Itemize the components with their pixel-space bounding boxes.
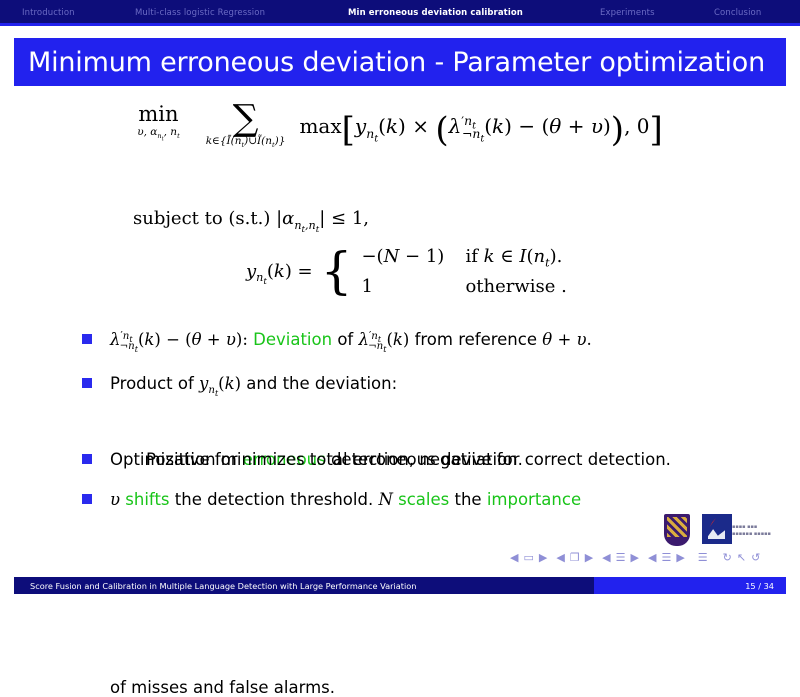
nav-forward-icon[interactable]: ↺ [751,552,760,563]
bullet4-mid2: the [449,490,487,509]
nav-next-slide-icon[interactable]: ▶ [539,552,547,563]
bullet1-tail: from reference θ + υ. [415,330,592,349]
nav-search-icon[interactable]: ↖ [737,552,746,563]
max-operator-symbol: max [299,114,341,138]
nav-next-subsection-icon[interactable]: ▶ [631,552,639,563]
equation-objective: min υ, αnt, nt ∑ k∈{Ī(nt)∪Ĩ(nt)} max[ynt… [0,104,800,150]
bullet-text-3: Optimization minimizes total erroneous d… [0,448,800,471]
nav-next-section-icon[interactable]: ▶ [676,552,684,563]
footer-left-panel: Score Fusion and Calibration in Multiple… [14,577,594,594]
slide-title-bar: Minimum erroneous deviation - Parameter … [14,38,786,86]
nav-prev-section-icon[interactable]: ◀ [648,552,656,563]
list-item: λ′nt¬nt(k) − (θ + υ): Deviation of λ′nt¬… [0,328,800,351]
piecewise-case-1-value: −(N − 1) [361,246,465,267]
bullet4-upsilon: υ [110,490,125,509]
page-title: Minimum erroneous deviation - Parameter … [14,47,765,78]
piecewise-case-2-value: 1 [361,276,465,297]
list-item: υ shifts the detection threshold. N scal… [0,488,800,511]
beamer-navigation-symbols[interactable]: ◀ ▭ ▶ ◀ ❐ ▶ ◀ ☰ ▶ ◀ ☰ ▶ ☰ ↻ ↖ ↺ [510,552,760,563]
nav-next-frame-icon[interactable]: ▶ [585,552,593,563]
footer-right-panel: 15 / 34 [594,577,786,594]
list-item: Optimization minimizes total erroneous d… [0,448,800,471]
piecewise-case-2-condition: otherwise . [465,276,566,297]
max-expression: max[ynt(k) × (λ′nt¬nt(k) − (θ + υ)), 0] [299,110,662,150]
highlight-scales: scales [393,490,449,509]
nav-section-icon[interactable]: ☰ [661,552,671,563]
bullet-text-4-line2: of misses and false alarms. [110,678,335,697]
section-navigation-bar: Introduction Multi-class logistic Regres… [0,0,800,23]
nav-item-experiments[interactable]: Experiments [600,8,655,18]
bullet2-prefix: Product of [110,374,199,393]
piecewise-case-1-condition: if k ∈ I(nt). [465,246,562,267]
footer-paper-title: Score Fusion and Calibration in Multiple… [30,581,416,591]
nav-prev-slide-icon[interactable]: ◀ [510,552,518,563]
nav-prev-frame-icon[interactable]: ◀ [556,552,564,563]
bullet-text-4: υ shifts the detection threshold. N scal… [0,488,800,511]
nav-subsection-icon[interactable]: ☰ [616,552,626,563]
bullet4-mid1: the detection threshold. [170,490,379,509]
bullet-text-2: Product of ynt(k) and the deviation: [0,372,800,395]
institute-wordmark: ▪▪▪▪ ▪▪▪▪▪▪▪▪▪ ▪▪▪▪▪ [732,524,776,537]
nav-prev-subsection-icon[interactable]: ◀ [602,552,610,563]
bullet-text-1: λ′nt¬nt(k) − (θ + υ): Deviation of λ′nt¬… [0,328,800,351]
nav-back-icon[interactable]: ↻ [723,552,732,563]
highlight-shifts: shifts [125,490,169,509]
piecewise-case-1: −(N − 1) if k ∈ I(nt). [361,246,566,267]
nav-item-introduction[interactable]: Introduction [22,8,75,18]
navbar-underline [0,23,800,26]
piecewise-case-2: 1 otherwise . [361,276,566,297]
piecewise-brace: { [321,252,353,291]
footer-page-number: 15 / 34 [745,581,774,591]
bullet1-of: of [332,330,358,349]
university-shield-logo-icon [664,514,690,546]
highlight-deviation: Deviation [253,330,332,349]
slide-footer: Score Fusion and Calibration in Multiple… [14,577,786,594]
bullet4-n: N [378,490,392,509]
piecewise-lhs: ynt(k) = [246,261,313,283]
min-operator-subscript: υ, αnt, nt [137,127,179,139]
list-item: Product of ynt(k) and the deviation: Pos… [0,372,800,395]
logo-group: ▪▪▪▪ ▪▪▪▪▪▪▪▪▪ ▪▪▪▪▪ [664,514,776,546]
sum-operator-subscript: k∈{Ī(nt)∪Ĩ(nt)} [206,136,286,147]
sum-operator-symbol: ∑ [233,104,259,134]
slide-content: min υ, αnt, nt ∑ k∈{Ī(nt)∪Ĩ(nt)} max[ynt… [0,96,800,556]
nav-frame-icon[interactable]: ❐ [570,552,580,563]
highlight-importance: importance [487,490,581,509]
institute-logo-icon [702,514,732,544]
bullet2-suffix: and the deviation: [246,374,397,393]
equation-piecewise-definition: ynt(k) = { −(N − 1) if k ∈ I(nt). 1 othe… [246,246,567,297]
equation-constraint: subject to (s.t.) |αnt,nt| ≤ 1, [133,208,369,230]
sum-operator: ∑ k∈{Ī(nt)∪Ĩ(nt)} [206,104,286,146]
min-operator-symbol: min [138,104,178,125]
nav-item-multiclass-logistic-regression[interactable]: Multi-class logistic Regression [135,8,265,18]
nav-item-conclusion[interactable]: Conclusion [714,8,761,18]
nav-toc-icon[interactable]: ☰ [698,552,708,563]
min-operator: min υ, αnt, nt [137,104,179,139]
nav-slide-icon[interactable]: ▭ [523,552,533,563]
nav-item-min-erroneous-deviation-calibration[interactable]: Min erroneous deviation calibration [348,8,523,18]
